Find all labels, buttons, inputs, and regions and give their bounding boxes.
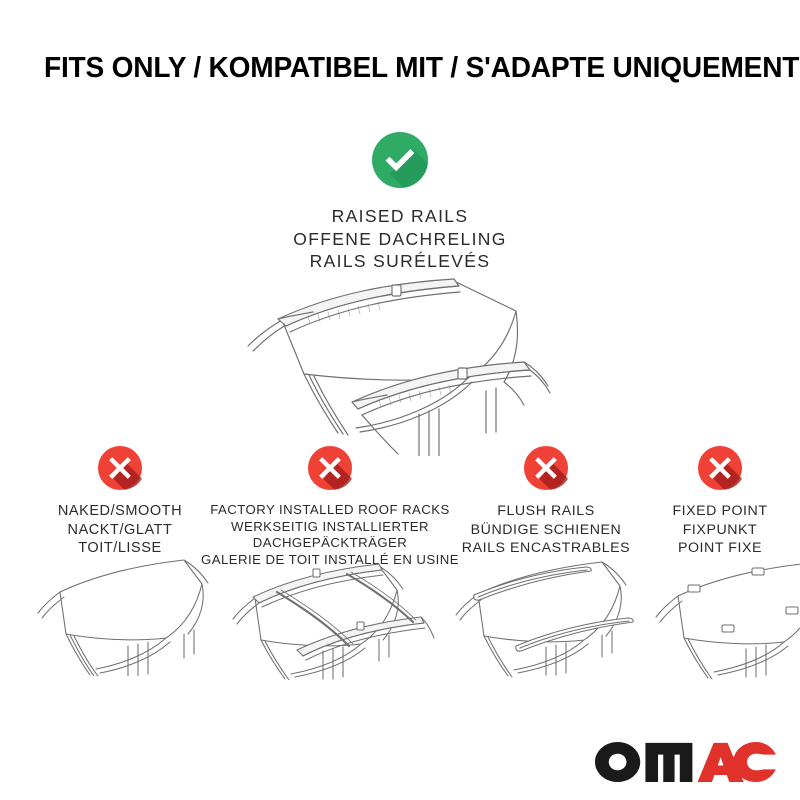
cross-circle-icon xyxy=(524,446,568,490)
compatible-label-fr: RAILS SURÉLEVÉS xyxy=(293,250,507,273)
label-de: FIXPUNKT xyxy=(672,521,767,540)
incompatible-item-flush-rails: FLUSH RAILS BÜNDIGE SCHIENEN RAILS ENCAS… xyxy=(448,446,644,558)
page-title: FITS ONLY / KOMPATIBEL MIT / S'ADAPTE UN… xyxy=(44,52,763,85)
label-de: NACKT/GLATT xyxy=(58,521,182,540)
car-roof-fixed-point-illustration xyxy=(642,554,800,680)
car-roof-flush-rails-illustration xyxy=(440,554,646,678)
car-roof-raised-rails-illustration xyxy=(186,278,630,456)
incompatible-labels-flush-rails: FLUSH RAILS BÜNDIGE SCHIENEN RAILS ENCAS… xyxy=(462,502,630,558)
incompatible-item-factory-roof-racks: FACTORY INSTALLED ROOF RACKS WERKSEITIG … xyxy=(205,446,455,568)
label-de: BÜNDIGE SCHIENEN xyxy=(462,521,630,540)
label-de-2: DACHGEPÄCKTRÄGER xyxy=(201,535,459,552)
label-en: NAKED/SMOOTH xyxy=(58,502,182,521)
label-en: FIXED POINT xyxy=(672,502,767,521)
compatible-label-en: RAISED RAILS xyxy=(293,205,507,228)
incompatible-labels-fixed-point: FIXED POINT FIXPUNKT POINT FIXE xyxy=(672,502,767,558)
car-roof-factory-roof-racks-illustration xyxy=(215,554,437,680)
not-compatible-section: NAKED/SMOOTH NACKT/GLATT TOIT/LISSE xyxy=(0,446,800,696)
incompatible-item-fixed-point: FIXED POINT FIXPUNKT POINT FIXE xyxy=(640,446,800,558)
cross-circle-icon xyxy=(98,446,142,490)
car-roof-naked-smooth-illustration xyxy=(24,554,220,676)
compatible-section: RAISED RAILS OFFENE DACHRELING RAILS SUR… xyxy=(0,132,800,273)
label-de-1: WERKSEITIG INSTALLIERTER xyxy=(201,519,459,536)
cross-circle-icon xyxy=(698,446,742,490)
label-en: FACTORY INSTALLED ROOF RACKS xyxy=(201,502,459,519)
omac-logo xyxy=(595,742,776,782)
incompatible-labels-naked-smooth: NAKED/SMOOTH NACKT/GLATT TOIT/LISSE xyxy=(58,502,182,558)
compatible-labels: RAISED RAILS OFFENE DACHRELING RAILS SUR… xyxy=(293,205,507,273)
incompatible-item-naked-smooth: NAKED/SMOOTH NACKT/GLATT TOIT/LISSE xyxy=(18,446,222,558)
compatible-label-de: OFFENE DACHRELING xyxy=(293,228,507,251)
label-en: FLUSH RAILS xyxy=(462,502,630,521)
cross-circle-icon xyxy=(308,446,352,490)
check-circle-icon xyxy=(372,132,428,188)
